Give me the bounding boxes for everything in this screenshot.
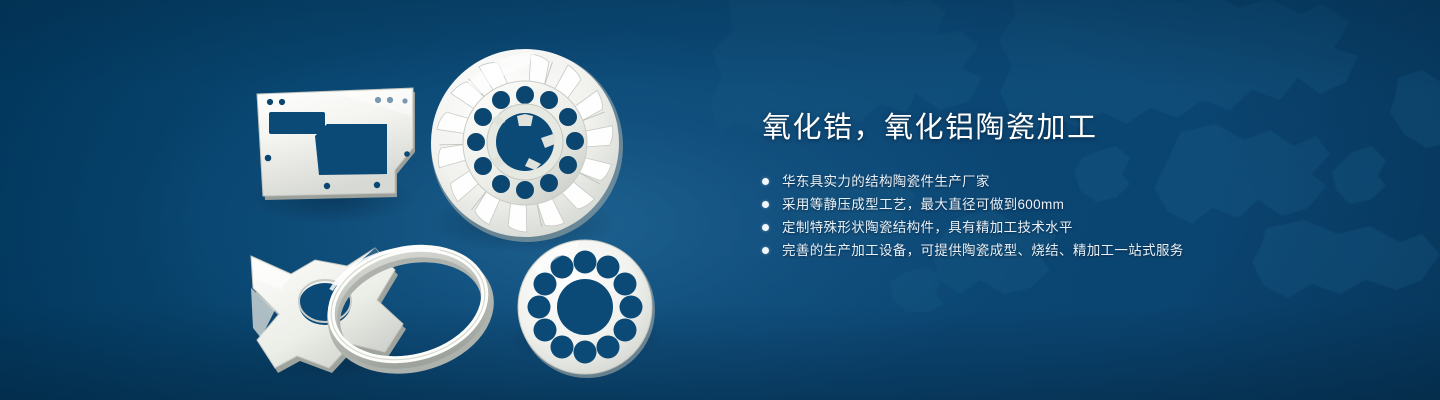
ceramic-impeller-disc [431, 49, 623, 242]
machined-ceramic-plate [257, 88, 415, 200]
hero-banner: 氧化锆，氧化铝陶瓷加工 华东具实力的结构陶瓷件生产厂家 采用等静压成型工艺，最大… [0, 0, 1440, 400]
bullet-dot-icon [762, 224, 769, 231]
list-item: 完善的生产加工设备，可提供陶瓷成型、烧结、精加工一站式服务 [762, 239, 1382, 262]
ceramic-parts-illustration [235, 38, 665, 383]
bullet-dot-icon [762, 247, 769, 254]
list-item-label: 定制特殊形状陶瓷结构件，具有精加工技术水平 [782, 216, 1073, 239]
banner-copy: 氧化锆，氧化铝陶瓷加工 华东具实力的结构陶瓷件生产厂家 采用等静压成型工艺，最大… [762, 108, 1382, 262]
perforated-ceramic-ring [518, 240, 655, 378]
bullet-dot-icon [762, 178, 769, 185]
list-item-label: 完善的生产加工设备，可提供陶瓷成型、烧结、精加工一站式服务 [782, 239, 1184, 262]
list-item-label: 华东具实力的结构陶瓷件生产厂家 [782, 170, 990, 193]
feature-list: 华东具实力的结构陶瓷件生产厂家 采用等静压成型工艺，最大直径可做到600mm 定… [762, 170, 1382, 262]
ceramic-parts-photo [235, 38, 665, 383]
list-item: 华东具实力的结构陶瓷件生产厂家 [762, 170, 1382, 193]
page-title: 氧化锆，氧化铝陶瓷加工 [762, 108, 1382, 148]
list-item: 定制特殊形状陶瓷结构件，具有精加工技术水平 [762, 216, 1382, 239]
bullet-dot-icon [762, 201, 769, 208]
list-item: 采用等静压成型工艺，最大直径可做到600mm [762, 193, 1382, 216]
list-item-label: 采用等静压成型工艺，最大直径可做到600mm [782, 193, 1064, 216]
